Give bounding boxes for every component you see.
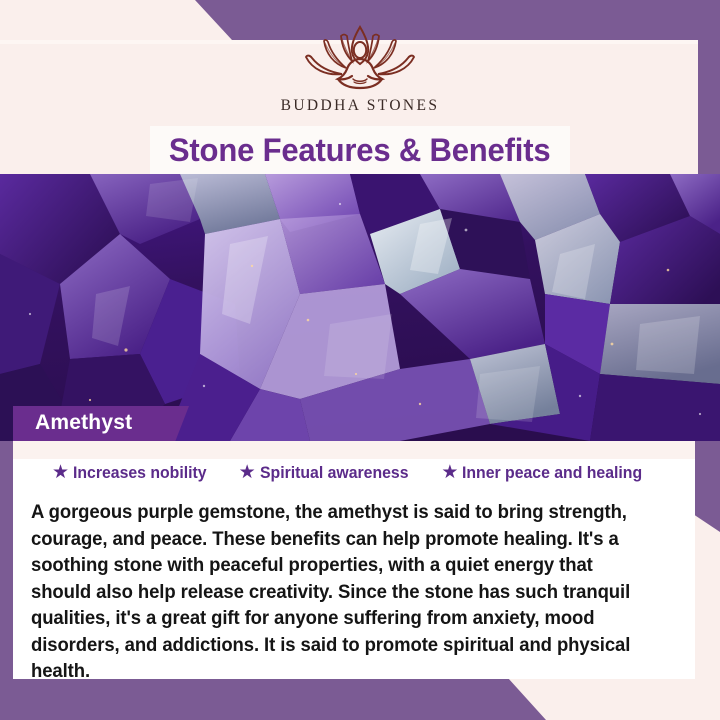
stone-name-label: Amethyst [35,411,132,434]
amethyst-crystal-cluster-photo [0,174,720,441]
card-top-accent [13,441,695,459]
star-icon: ★ [52,463,69,482]
benefit-item: ★ Increases nobility [52,463,217,483]
page-title-panel: Stone Features & Benefits [150,126,570,174]
stone-description: A gorgeous purple gemstone, the amethyst… [31,499,652,685]
page-title: Stone Features & Benefits [169,132,551,169]
benefit-label: Spiritual awareness [260,463,409,483]
benefit-label: Inner peace and healing [462,463,642,483]
benefit-item: ★ Inner peace and healing [441,463,656,483]
star-icon: ★ [441,463,458,482]
stone-name-badge: Amethyst [13,406,189,442]
content-card: ★ Increases nobility ★ Spiritual awarene… [13,441,695,679]
benefit-label: Increases nobility [73,463,207,483]
stone-feature-card: BUDDHA STONES Stone Features & Benefits [0,0,720,720]
lotus-meditation-icon [284,24,436,90]
benefit-item: ★ Spiritual awareness [239,463,420,483]
brand-logo: BUDDHA STONES [281,24,440,115]
brand-wordmark: BUDDHA STONES [281,97,440,115]
hero-image [0,174,720,441]
benefits-list: ★ Increases nobility ★ Spiritual awarene… [13,463,695,483]
star-icon: ★ [239,463,256,482]
